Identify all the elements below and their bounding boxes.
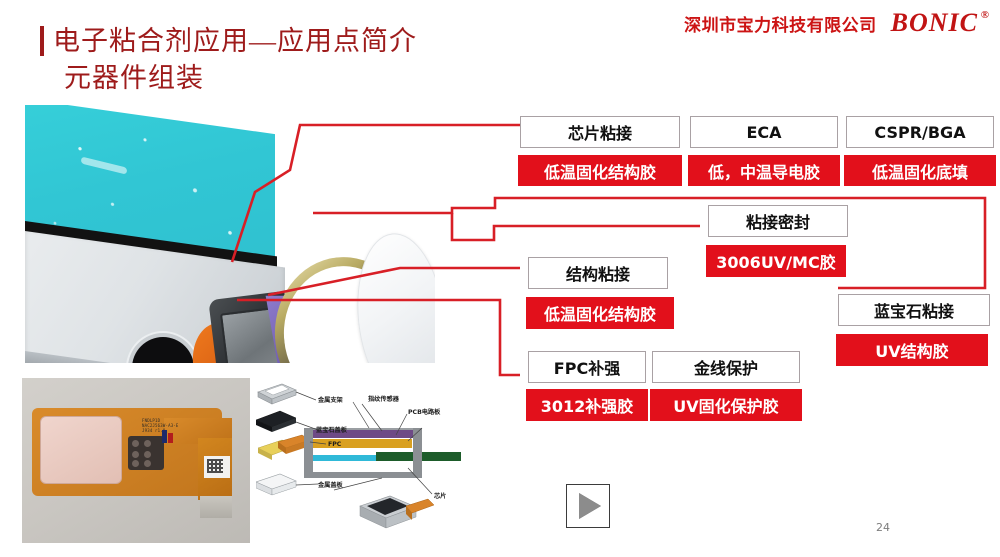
- label-chip-bonding-application[interactable]: 芯片粘接: [520, 116, 680, 148]
- media-play-button[interactable]: [566, 484, 610, 528]
- qr-code-label: [204, 456, 230, 478]
- slide-canvas: 深圳市宝力科技有限公司 BONIC® 电子粘合剂应用—应用点简介 元器件组装: [0, 0, 1000, 557]
- callout-fpc: FPC: [328, 441, 342, 448]
- label-sapphire-bond-application[interactable]: 蓝宝石粘接: [838, 294, 990, 326]
- label-structural-bond-adhesive[interactable]: 低温固化结构胶: [526, 297, 674, 329]
- stack-fpc: [258, 435, 310, 460]
- fpc-component-red: [168, 433, 173, 443]
- play-triangle-icon: [579, 493, 601, 519]
- label-chip-bonding-adhesive[interactable]: 低温固化结构胶: [518, 155, 682, 186]
- title-line-2: 元器件组装: [40, 60, 560, 96]
- label-bond-seal-application[interactable]: 粘接密封: [708, 205, 848, 237]
- stack-sapphire-cover: [256, 411, 296, 432]
- label-gold-wire-protect-adhesive[interactable]: UV固化保护胶: [650, 389, 802, 421]
- label-sapphire-bond-adhesive[interactable]: UV结构胶: [836, 334, 988, 366]
- brand-logo: BONIC®: [891, 8, 990, 38]
- exploded-structure-diagram: 金属支架 蓝宝石盖板 FPC 金属盖板 指纹传感器 PCB电路板 芯片: [256, 378, 506, 543]
- touch-id-exploded-photo: [25, 105, 435, 363]
- label-cspr-bga-adhesive[interactable]: 低温固化底填: [844, 155, 996, 186]
- callout-sapphire-cover: 蓝宝石盖板: [316, 426, 348, 434]
- brand-text: BONIC: [891, 8, 978, 37]
- title-accent-bar: [40, 26, 44, 56]
- title-line-1: 电子粘合剂应用—应用点简介: [53, 22, 417, 60]
- label-cspr-bga-application[interactable]: CSPR/BGA: [846, 116, 994, 148]
- label-bond-seal-adhesive[interactable]: 3006UV/MC胶: [706, 245, 846, 277]
- callout-pcb-board: PCB电路板: [408, 408, 441, 416]
- fpc-silkscreen: FNDLP1DNAC2J563W-A3-EJ934 r1.0: [142, 418, 218, 434]
- callout-metal-cover: 金属盖板: [317, 481, 344, 489]
- fpc-component-blue: [162, 430, 167, 443]
- label-structural-bond-application[interactable]: 结构粘接: [528, 257, 668, 289]
- callout-fingerprint-sensor: 指纹传感器: [368, 395, 400, 403]
- label-fpc-reinforce-application[interactable]: FPC补强: [528, 351, 646, 383]
- registered-mark-icon: ®: [981, 9, 990, 21]
- fpc-module-photo: FNDLP1DNAC2J563W-A3-EJ934 r1.0: [22, 378, 250, 543]
- exploded-diagram-svg: 金属支架 蓝宝石盖板 FPC 金属盖板 指纹传感器 PCB电路板 芯片: [256, 378, 506, 543]
- callout-chip: 芯片: [434, 492, 446, 500]
- assembled-module: [360, 496, 434, 528]
- label-eca-application[interactable]: ECA: [690, 116, 838, 148]
- page-number: 24: [876, 521, 890, 534]
- stack-metal-bracket: [258, 384, 296, 404]
- fingerprint-pad: [40, 416, 122, 484]
- cross-section: [304, 428, 461, 478]
- screen-highlight: [81, 157, 127, 175]
- page-title: 电子粘合剂应用—应用点简介 元器件组装: [40, 22, 560, 96]
- label-fpc-reinforce-adhesive[interactable]: 3012补强胶: [526, 389, 648, 421]
- fpc-connector: [128, 436, 164, 470]
- label-eca-adhesive[interactable]: 低，中温导电胶: [688, 155, 840, 186]
- fpc-contact-pad: [200, 496, 232, 518]
- sapphire-cap: [349, 229, 435, 363]
- stack-metal-cover: [256, 474, 296, 495]
- label-gold-wire-protect-application[interactable]: 金线保护: [652, 351, 800, 383]
- company-name: 深圳市宝力科技有限公司: [684, 11, 877, 36]
- callout-metal-bracket: 金属支架: [317, 396, 344, 404]
- title-line-1-row: 电子粘合剂应用—应用点简介: [40, 22, 560, 60]
- company-header: 深圳市宝力科技有限公司 BONIC®: [500, 8, 990, 38]
